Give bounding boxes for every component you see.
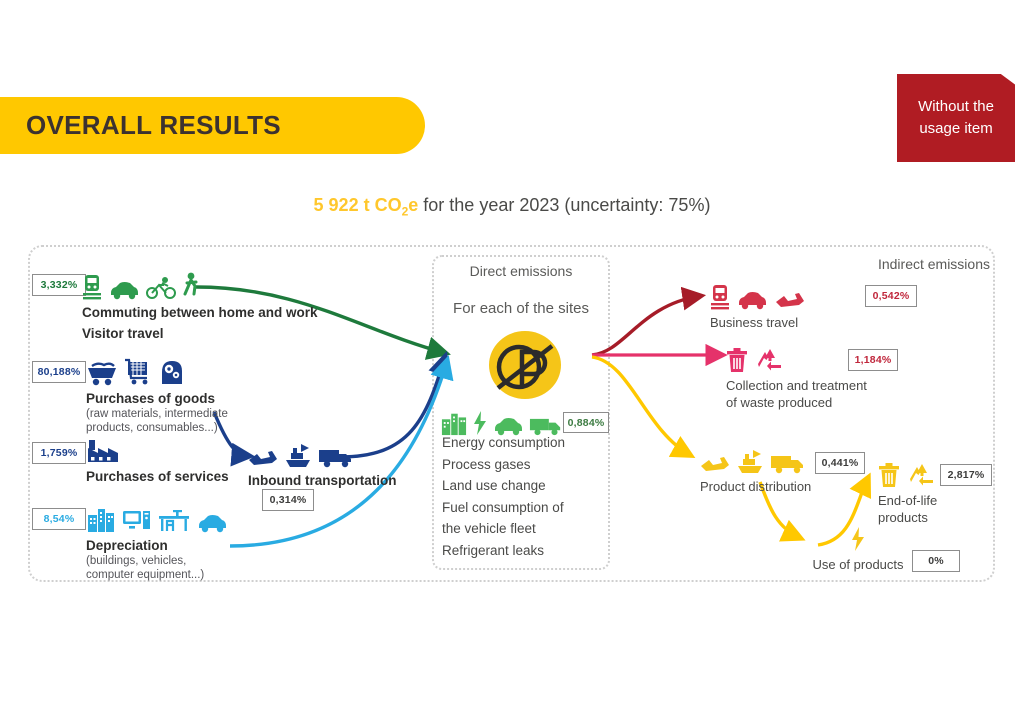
car-icon [196,513,228,533]
badge-line-2: usage item [919,120,992,137]
status-badge: Without the usage item [897,74,1015,162]
block-depreciation: Depreciation (buildings, vehicles, compu… [86,503,326,582]
headline-total-value: 5 922 t CO [314,195,402,215]
chip-distribution: 0,441% [815,452,865,474]
headline-rest: for the year 2023 (uncertainty: 75%) [418,195,710,215]
chip-inbound: 0,314% [262,489,314,511]
chip-waste: 1,184% [848,349,898,371]
direct-emissions-list: Energy consumption Process gases Land us… [442,432,607,561]
inbound-caption: Inbound transportation [248,472,428,489]
list-item: Process gases [442,454,607,476]
block-inbound-transportation: Inbound transportation [248,438,428,489]
factory-icon [86,436,120,464]
depreciation-sub-2: computer equipment...) [86,568,326,582]
label-direct-emissions: Direct emissions [432,263,610,279]
car-icon [736,290,768,310]
list-item: Fuel consumption of [442,497,607,519]
business-travel-caption: Business travel [710,314,890,331]
plane-icon [774,292,806,310]
block-use-of-products: Use of products [788,526,928,573]
end-of-life-caption-1: End-of-life [878,492,1008,509]
desk-icon [158,509,190,533]
train-icon [82,274,102,300]
mining-cart-icon [86,360,118,386]
block-business-travel: Business travel [710,280,890,331]
buildings-icon [86,505,116,533]
waste-caption-2: of waste produced [726,394,926,411]
head-gears-icon [158,358,184,386]
bicycle-icon [146,276,176,300]
goods-icons [86,356,316,386]
truck-icon [318,446,354,468]
end-of-life-caption-2: products [878,509,1008,526]
list-item: Energy consumption [442,432,607,454]
shopping-cart-icon [124,358,152,386]
bolt-icon [850,526,866,552]
label-for-each-site: For each of the sites [432,300,610,317]
goods-sub-2: products, consumables...) [86,421,316,435]
ship-icon [736,448,764,474]
plane-icon [248,450,278,468]
company-logo-icon [482,322,568,408]
headline: 5 922 t CO2e for the year 2023 (uncertai… [0,195,1024,219]
headline-total: 5 922 t CO2e [314,195,419,215]
label-indirect-emissions: Indirect emissions [830,256,990,272]
block-goods: Purchases of goods (raw materials, inter… [86,356,316,435]
trash-icon [878,462,900,488]
chip-use-of-products: 0% [912,550,960,572]
chip-end-of-life: 2,817% [940,464,992,486]
recycle-icon [756,347,784,373]
business-travel-icons [710,280,890,310]
train-icon [710,284,730,310]
computer-icon [122,507,152,533]
waste-caption-1: Collection and treatment [726,377,926,394]
chip-commuting: 3,332% [32,274,86,296]
goods-caption: Purchases of goods [86,390,316,407]
block-commuting: Commuting between home and work Visitor … [82,270,332,342]
page-title: OVERALL RESULTS [0,110,281,141]
commuting-caption-2: Visitor travel [82,325,332,342]
list-item: Refrigerant leaks [442,540,607,562]
recycle-icon [908,462,936,488]
badge-text: Without the usage item [918,96,994,140]
plane-icon [700,456,730,474]
slide-canvas: OVERALL RESULTS Without the usage item 5… [0,0,1024,724]
chip-business-travel: 0,542% [865,285,917,307]
list-item: the vehicle fleet [442,518,607,540]
ship-icon [284,442,312,468]
chip-services: 1,759% [32,442,86,464]
car-icon [108,280,140,300]
use-of-products-caption: Use of products [788,556,928,573]
depreciation-sub-1: (buildings, vehicles, [86,554,326,568]
use-of-products-icons [788,526,928,552]
list-item: Land use change [442,475,607,497]
truck-icon [770,452,806,474]
commuting-caption-1: Commuting between home and work [82,304,332,321]
page-title-banner: OVERALL RESULTS [0,97,425,154]
headline-total-tail: e [408,195,418,215]
chip-depreciation: 8,54% [32,508,86,530]
inbound-icons [248,438,428,468]
depreciation-caption: Depreciation [86,537,326,554]
badge-line-1: Without the [918,98,994,115]
commuting-icons [82,270,332,300]
trash-icon [726,347,748,373]
chip-goods: 80,188% [32,361,86,383]
distribution-caption: Product distribution [700,478,890,495]
pedestrian-icon [182,272,200,300]
chip-direct: 0,884% [563,412,609,433]
goods-sub-1: (raw materials, intermediate [86,407,316,421]
